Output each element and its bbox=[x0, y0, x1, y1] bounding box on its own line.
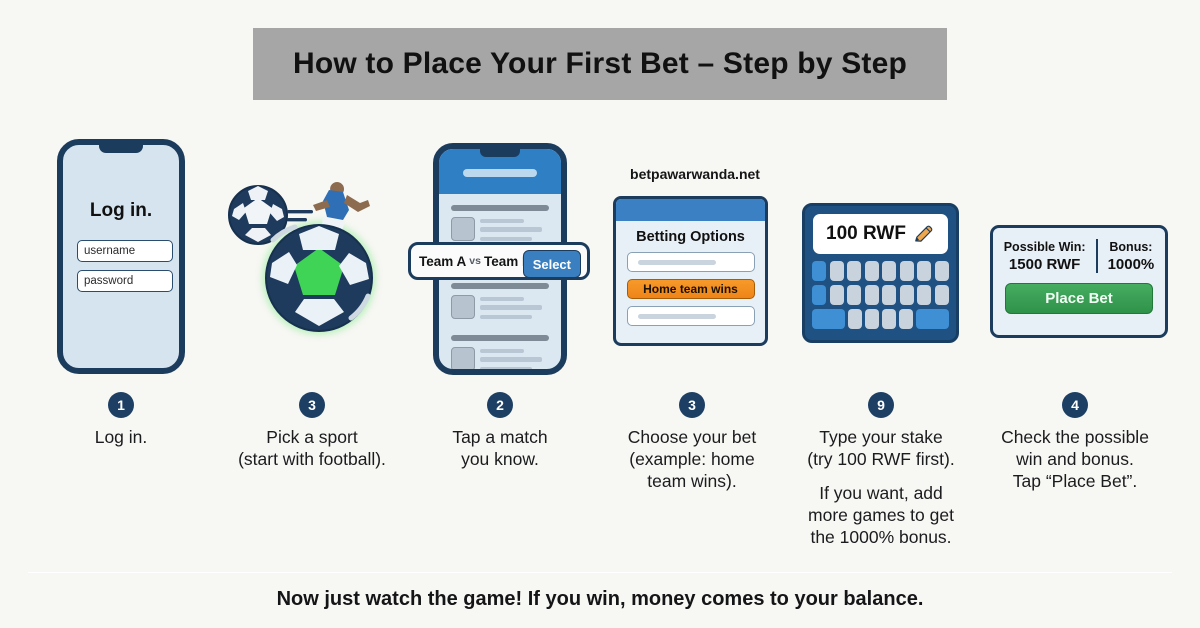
pencil-icon[interactable] bbox=[913, 223, 935, 245]
caption-line: Log in. bbox=[45, 426, 197, 448]
step-caption: Check the possible win and bonus. Tap “P… bbox=[985, 426, 1165, 492]
keypad-key[interactable] bbox=[865, 261, 879, 281]
caption-line: more games to get bbox=[792, 504, 970, 526]
caption-line: (try 100 RWF first). bbox=[792, 448, 970, 470]
possible-win-label: Possible Win: bbox=[1004, 239, 1086, 256]
keypad-key-wide[interactable] bbox=[916, 309, 949, 329]
row-line bbox=[480, 227, 542, 232]
row-line bbox=[480, 315, 532, 319]
keypad-row bbox=[812, 285, 949, 305]
keypad-key[interactable] bbox=[830, 285, 844, 305]
select-button[interactable]: Select bbox=[523, 250, 581, 278]
row-title-bar bbox=[451, 205, 549, 211]
caption-line: Tap “Place Bet”. bbox=[985, 470, 1165, 492]
bonus-column: Bonus: 1000% bbox=[1098, 239, 1165, 273]
step-caption: Type your stake (try 100 RWF first). If … bbox=[792, 426, 970, 548]
keypad-row bbox=[812, 261, 949, 281]
betting-options-title: Betting Options bbox=[616, 229, 765, 245]
title-banner: How to Place Your First Bet – Step by St… bbox=[253, 28, 947, 100]
phone-notch bbox=[99, 144, 143, 153]
keypad-row bbox=[812, 309, 949, 329]
stake-display[interactable]: 100 RWF bbox=[813, 214, 948, 254]
keypad-key[interactable] bbox=[812, 285, 826, 305]
possible-win-value: 1500 RWF bbox=[1004, 256, 1086, 273]
keypad-key[interactable] bbox=[917, 261, 931, 281]
row-title-bar bbox=[451, 283, 549, 289]
infographic-canvas: How to Place Your First Bet – Step by St… bbox=[0, 0, 1200, 628]
row-line bbox=[480, 237, 532, 241]
row-line bbox=[480, 367, 532, 371]
step-badge: 3 bbox=[679, 392, 705, 418]
keypad-key[interactable] bbox=[830, 261, 844, 281]
keypad-key[interactable] bbox=[935, 261, 949, 281]
site-watermark: betpawarwanda.net bbox=[606, 166, 784, 182]
row-line bbox=[480, 297, 524, 301]
keypad-key[interactable] bbox=[847, 285, 861, 305]
keypad-key[interactable] bbox=[882, 261, 896, 281]
row-thumbnail bbox=[451, 217, 475, 241]
keypad-key[interactable] bbox=[917, 285, 931, 305]
vs-label: vs bbox=[469, 255, 481, 267]
caption-line: Type your stake bbox=[792, 426, 970, 448]
bet-option-home-team-wins[interactable]: Home team wins bbox=[627, 279, 755, 299]
big-soccer-ball-icon bbox=[225, 160, 405, 360]
caption-line: (example: home bbox=[608, 448, 776, 470]
step-caption: Log in. bbox=[45, 426, 197, 448]
caption-line: Choose your bet bbox=[608, 426, 776, 448]
footer-divider bbox=[28, 572, 1172, 573]
page-title: How to Place Your First Bet – Step by St… bbox=[293, 47, 907, 81]
keypad-key[interactable] bbox=[848, 309, 862, 329]
match-selection-chip[interactable]: Team A vs Team B Select bbox=[408, 242, 590, 280]
bonus-label: Bonus: bbox=[1108, 239, 1155, 256]
caption-line: the 1000% bonus. bbox=[792, 526, 970, 548]
phone-app-header bbox=[439, 149, 561, 194]
step-4: 3 Choose your bet (example: home team wi… bbox=[608, 392, 776, 492]
step-2: 3 Pick a sport (start with football). bbox=[222, 392, 402, 470]
betting-options-card: Betting Options Home team wins bbox=[613, 196, 768, 346]
row-line bbox=[480, 219, 524, 223]
row-thumbnail bbox=[451, 347, 475, 371]
keypad-keys[interactable] bbox=[812, 261, 949, 333]
step-3: 2 Tap a match you know. bbox=[421, 392, 579, 470]
caption-line: If you want, add bbox=[792, 482, 970, 504]
summary-row: Possible Win: 1500 RWF Bonus: 1000% bbox=[993, 239, 1165, 273]
place-bet-button[interactable]: Place Bet bbox=[1005, 283, 1153, 314]
stake-amount: 100 RWF bbox=[826, 223, 906, 245]
keypad-key[interactable] bbox=[865, 309, 879, 329]
caption-line: (start with football). bbox=[222, 448, 402, 470]
keypad-key[interactable] bbox=[900, 261, 914, 281]
search-pill[interactable] bbox=[463, 169, 537, 177]
footer-text: Now just watch the game! If you win, mon… bbox=[0, 588, 1200, 611]
row-thumbnail bbox=[451, 295, 475, 319]
match-row[interactable] bbox=[439, 277, 561, 329]
step-5: 9 Type your stake (try 100 RWF first). I… bbox=[792, 392, 970, 548]
login-phone-mockup: Log in. username password bbox=[57, 139, 185, 374]
row-line bbox=[480, 357, 542, 362]
row-line bbox=[480, 305, 542, 310]
bet-option-row[interactable] bbox=[627, 306, 755, 326]
possible-win-column: Possible Win: 1500 RWF bbox=[994, 239, 1096, 273]
caption-line: team wins). bbox=[608, 470, 776, 492]
caption-line: Check the possible bbox=[985, 426, 1165, 448]
step-badge: 2 bbox=[487, 392, 513, 418]
keypad-key[interactable] bbox=[900, 285, 914, 305]
step-6: 4 Check the possible win and bonus. Tap … bbox=[985, 392, 1165, 492]
bonus-value: 1000% bbox=[1108, 256, 1155, 273]
step-badge: 4 bbox=[1062, 392, 1088, 418]
keypad-key[interactable] bbox=[847, 261, 861, 281]
keypad-key[interactable] bbox=[899, 309, 913, 329]
caption-line: Tap a match bbox=[421, 426, 579, 448]
keypad-key[interactable] bbox=[882, 309, 896, 329]
step-badge: 3 bbox=[299, 392, 325, 418]
caption-line: win and bonus. bbox=[985, 448, 1165, 470]
keypad-key[interactable] bbox=[865, 285, 879, 305]
step-caption: Pick a sport (start with football). bbox=[222, 426, 402, 470]
login-heading: Log in. bbox=[63, 200, 179, 222]
placeholder-line bbox=[638, 260, 716, 265]
password-field[interactable]: password bbox=[77, 270, 173, 292]
row-line bbox=[480, 349, 524, 353]
stake-keypad: 100 RWF bbox=[802, 203, 959, 343]
sport-illustration bbox=[225, 160, 405, 360]
step-badge: 9 bbox=[868, 392, 894, 418]
keypad-key[interactable] bbox=[935, 285, 949, 305]
step-caption: Tap a match you know. bbox=[421, 426, 579, 470]
step-1: 1 Log in. bbox=[45, 392, 197, 448]
phone-notch bbox=[480, 149, 520, 157]
team-a-label: Team A bbox=[419, 254, 466, 269]
bet-option-row[interactable] bbox=[627, 252, 755, 272]
keypad-key[interactable] bbox=[812, 261, 826, 281]
caption-line: Pick a sport bbox=[222, 426, 402, 448]
step-badge: 1 bbox=[108, 392, 134, 418]
step-caption: Choose your bet (example: home team wins… bbox=[608, 426, 776, 492]
caption-line: you know. bbox=[421, 448, 579, 470]
username-field[interactable]: username bbox=[77, 240, 173, 262]
placeholder-line bbox=[638, 314, 716, 319]
match-row[interactable] bbox=[439, 329, 561, 375]
keypad-key-wide[interactable] bbox=[812, 309, 845, 329]
bet-summary-card: Possible Win: 1500 RWF Bonus: 1000% Plac… bbox=[990, 225, 1168, 338]
card-header-bar bbox=[616, 199, 765, 221]
keypad-key[interactable] bbox=[882, 285, 896, 305]
row-title-bar bbox=[451, 335, 549, 341]
